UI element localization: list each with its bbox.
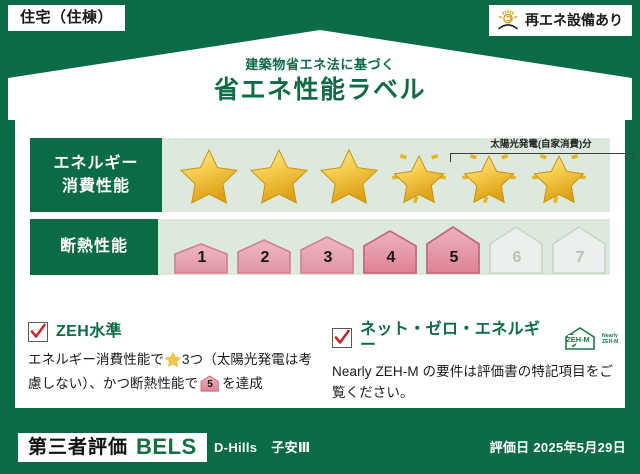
insulation-level-value: 5	[424, 250, 484, 266]
label-title: 省エネ性能ラベル	[0, 77, 640, 105]
insulation-level-value: 4	[361, 250, 421, 266]
zeh-criterion-text: エネルギー消費性能で3つ（太陽光発電は考慮しない）、かつ断熱性能で5を達成	[28, 349, 318, 395]
dwelling-type-chip: 住宅（住棟）	[8, 5, 125, 31]
insulation-level-value: 2	[235, 250, 295, 266]
netzero-criterion-text: Nearly ZEH-M の要件は評価書の特記項目をご覧ください。	[332, 361, 622, 404]
evaluation-date: 評価日 2025年5月29日	[490, 441, 626, 454]
insulation-level-badge: 1	[172, 242, 232, 275]
svg-text:ZEH-M: ZEH-M	[566, 335, 589, 344]
svg-text:ZEH-M: ZEH-M	[602, 339, 618, 345]
star-icon	[246, 142, 312, 208]
zeh-criterion-header: ZEH水準	[28, 322, 318, 342]
insulation-rating-body: 1 2 3	[158, 219, 610, 275]
insulation-level-value: 7	[550, 250, 610, 266]
insulation-label-cell: 断熱性能	[30, 219, 158, 275]
rating-rows: エネルギー 消費性能 太陽光発電(自家消費)分	[30, 138, 610, 282]
netzero-criterion: ネット・ゼロ・エネルギー ZEH-M Nearly ZEH-M Nearly Z…	[332, 322, 622, 404]
energy-label-line2: 消費性能	[62, 175, 130, 198]
insulation-level-badge: 3	[298, 235, 358, 275]
netzero-criterion-title: ネット・ゼロ・エネルギー	[360, 322, 548, 354]
building-unit: 子安Ⅲ	[271, 441, 310, 454]
energy-label-line1: エネルギー	[53, 152, 138, 175]
insulation-level-value: 6	[487, 250, 547, 266]
label-subtitle: 建築物省エネ法に基づく	[0, 58, 640, 72]
zeh-text-stars: 3つ（太陽光発電	[182, 352, 285, 367]
star-icon	[176, 142, 242, 208]
energy-rating-body: 太陽光発電(自家消費)分	[162, 138, 610, 212]
zeh-text-part1: エネルギー消費性能で	[28, 352, 164, 367]
insulation-level-badge-inactive: 7	[550, 225, 610, 275]
star-icon-inline	[165, 351, 181, 373]
netzero-criterion-header: ネット・ゼロ・エネルギー ZEH-M Nearly ZEH-M	[332, 322, 622, 354]
insulation-level-badge-inactive: 6	[487, 225, 547, 275]
star-icon-solar	[526, 142, 592, 208]
insulation-level-value: 3	[298, 250, 358, 266]
zeh-criterion: ZEH水準 エネルギー消費性能で3つ（太陽光発電は考慮しない）、かつ断熱性能で5…	[28, 322, 318, 395]
zeh-m-logo-icon: ZEH-M Nearly ZEH-M	[560, 325, 622, 351]
insulation-level-group: 1 2 3	[158, 219, 610, 275]
bels-en-label: BELS	[136, 436, 197, 458]
insulation-label: 断熱性能	[60, 235, 128, 258]
insulation-badge-inline: 5	[200, 375, 220, 392]
zeh-checkbox[interactable]	[28, 322, 48, 342]
insulation-level-badge: 2	[235, 238, 295, 275]
bels-jp-label: 第三者評価	[28, 438, 128, 457]
insulation-level-value: 1	[172, 250, 232, 266]
renewable-equipment-chip: 再エネ設備あり	[489, 5, 632, 36]
bels-badge: 第三者評価 BELS	[18, 433, 207, 462]
energy-performance-row: エネルギー 消費性能 太陽光発電(自家消費)分	[30, 138, 610, 212]
energy-performance-label-cell: エネルギー 消費性能	[30, 138, 162, 212]
star-icon-solar	[456, 142, 522, 208]
insulation-performance-row: 断熱性能 1	[30, 219, 610, 275]
star-icon-solar	[386, 142, 452, 208]
star-rating-group	[162, 138, 610, 212]
insulation-badge-inline-value: 5	[200, 380, 220, 390]
zeh-criterion-title: ZEH水準	[56, 324, 122, 340]
insulation-level-badge: 4	[361, 229, 421, 275]
building-name-group: D-Hills 子安Ⅲ	[214, 441, 310, 454]
netzero-checkbox[interactable]	[332, 328, 352, 348]
zeh-text-part3: を達成	[222, 376, 263, 391]
insulation-level-badge: 5	[424, 225, 484, 275]
label-footer: 第三者評価 BELS D-Hills 子安Ⅲ 評価日 2025年5月29日	[0, 424, 640, 474]
renewable-equipment-label: 再エネ設備あり	[525, 13, 623, 27]
star-icon	[316, 142, 382, 208]
dwelling-type-label: 住宅（住棟）	[20, 9, 113, 26]
sun-solar-icon	[496, 9, 520, 31]
label-heading: 建築物省エネ法に基づく 省エネ性能ラベル	[0, 58, 640, 105]
building-name: D-Hills	[214, 441, 257, 454]
energy-performance-label: 住宅（住棟） 再エネ設備あり 建築物省	[0, 0, 640, 474]
